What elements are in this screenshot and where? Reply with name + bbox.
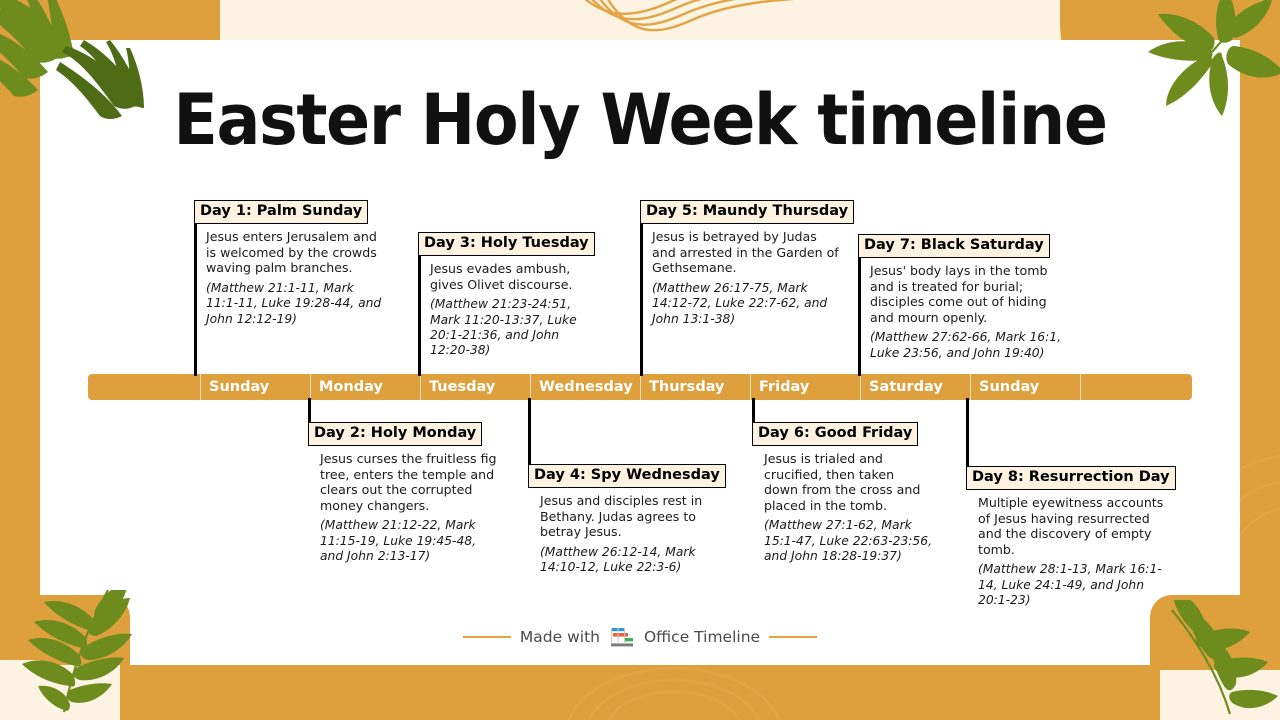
milestone-title: Day 6: Good Friday [752, 422, 918, 446]
footer-rule-right [769, 636, 817, 638]
milestone-refs: (Matthew 26:12-14, Mark 14:10-12, Luke 2… [540, 545, 723, 576]
milestone-title: Day 4: Spy Wednesday [528, 464, 726, 488]
milestone-body: Jesus and disciples rest in Bethany. Jud… [540, 493, 723, 540]
timeline-bar: Sunday Monday Tuesday Wednesday Thursday… [88, 374, 1192, 400]
milestone-body: Multiple eyewitness accounts of Jesus ha… [978, 495, 1166, 557]
milestone-refs: (Matthew 21:12-22, Mark 11:15-19, Luke 1… [320, 518, 503, 564]
milestone-connector-line [528, 398, 531, 470]
footer-brand-label: Office Timeline [644, 628, 760, 646]
milestone-title: Day 3: Holy Tuesday [418, 232, 595, 256]
footer-made-with-label: Made with [520, 628, 600, 646]
milestone-body: Jesus curses the fruitless fig tree, ent… [320, 451, 503, 513]
page-title: Easter Holy Week timeline [45, 78, 1235, 162]
timeline-day-trailing [1080, 374, 1190, 400]
milestone-title: Day 2: Holy Monday [308, 422, 482, 446]
footer-rule-left [463, 636, 511, 638]
office-timeline-gantt-icon [609, 626, 635, 648]
milestone-refs: (Matthew 21:1-11, Mark 11:1-11, Luke 19:… [206, 281, 384, 327]
milestone-body: Jesus is trialed and crucified, then tak… [764, 451, 932, 513]
timeline-day-wednesday: Wednesday [530, 374, 640, 400]
milestone-refs: (Matthew 21:23-24:51, Mark 11:20-13:37, … [430, 297, 598, 359]
timeline-day-saturday: Saturday [860, 374, 970, 400]
timeline-day-tuesday: Tuesday [420, 374, 530, 400]
slide-canvas: Easter Holy Week timeline Sunday Monday … [0, 0, 1280, 720]
milestone-refs: (Matthew 28:1-13, Mark 16:1-14, Luke 24:… [978, 562, 1166, 608]
milestone-body: Jesus is betrayed by Judas and arrested … [652, 229, 840, 276]
milestone-refs: (Matthew 27:1-62, Mark 15:1-47, Luke 22:… [764, 518, 932, 564]
milestone-body: Jesus evades ambush, gives Olivet discou… [430, 261, 598, 292]
milestone-refs: (Matthew 27:62-66, Mark 16:1, Luke 23:56… [870, 330, 1073, 361]
timeline-day-monday: Monday [310, 374, 420, 400]
timeline-day-sunday-2: Sunday [970, 374, 1080, 400]
milestone-connector-line [966, 398, 969, 472]
milestone-title: Day 1: Palm Sunday [194, 200, 368, 224]
milestone-title: Day 5: Maundy Thursday [640, 200, 854, 224]
timeline-day-sunday-1: Sunday [200, 374, 310, 400]
milestone-title: Day 7: Black Saturday [858, 234, 1050, 258]
footer-attribution: Made with Office Timeline [0, 626, 1280, 648]
milestone-refs: (Matthew 26:17-75, Mark 14:12-72, Luke 2… [652, 281, 840, 327]
decor-wave-lines-top [560, 0, 860, 42]
timeline-day-thursday: Thursday [640, 374, 750, 400]
milestone-body: Jesus' body lays in the tomb and is trea… [870, 263, 1073, 325]
timeline-day-friday: Friday [750, 374, 860, 400]
decor-arc-lines-bottom [540, 664, 810, 720]
milestone-title: Day 8: Resurrection Day [966, 466, 1176, 490]
milestone-body: Jesus enters Jerusalem and is welcomed b… [206, 229, 384, 276]
